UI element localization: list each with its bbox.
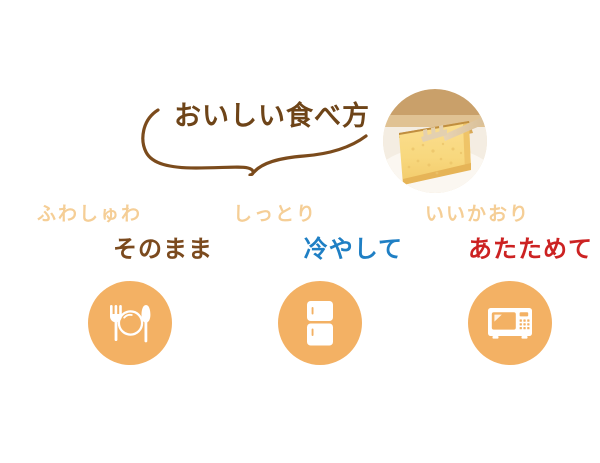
microwave-oven-icon bbox=[482, 295, 538, 351]
suggestion-card-warmed: いいかおり あたためて bbox=[413, 193, 600, 373]
suggestion-card-chilled: しっとり 冷やして bbox=[223, 193, 413, 373]
suggestion-label-plain: そのまま bbox=[33, 229, 223, 264]
icon-badge-warmed bbox=[468, 281, 552, 365]
suggestion-label-warmed: あたためて bbox=[413, 229, 600, 264]
page-title: おいしい食べ方 bbox=[174, 100, 374, 134]
suggestion-kicker-warmed: いいかおり bbox=[413, 199, 600, 226]
poster-canvas: おいしい食べ方 bbox=[0, 0, 600, 463]
icon-badge-plain bbox=[88, 281, 172, 365]
icon-badge-chilled bbox=[278, 281, 362, 365]
suggestion-kicker-chilled: しっとり bbox=[223, 199, 413, 226]
refrigerator-icon bbox=[292, 295, 348, 351]
suggestion-kicker-plain: ふわしゅわ bbox=[33, 199, 223, 226]
serving-suggestions-row: ふわしゅわ そのまま bbox=[0, 193, 600, 373]
suggestion-card-plain: ふわしゅわ そのまま bbox=[33, 193, 223, 373]
headline-group: おいしい食べ方 bbox=[136, 96, 376, 176]
cake-photo bbox=[383, 89, 487, 193]
castella-cake-image bbox=[383, 89, 487, 193]
plate-fork-knife-icon bbox=[102, 295, 158, 351]
suggestion-label-chilled: 冷やして bbox=[223, 229, 413, 264]
